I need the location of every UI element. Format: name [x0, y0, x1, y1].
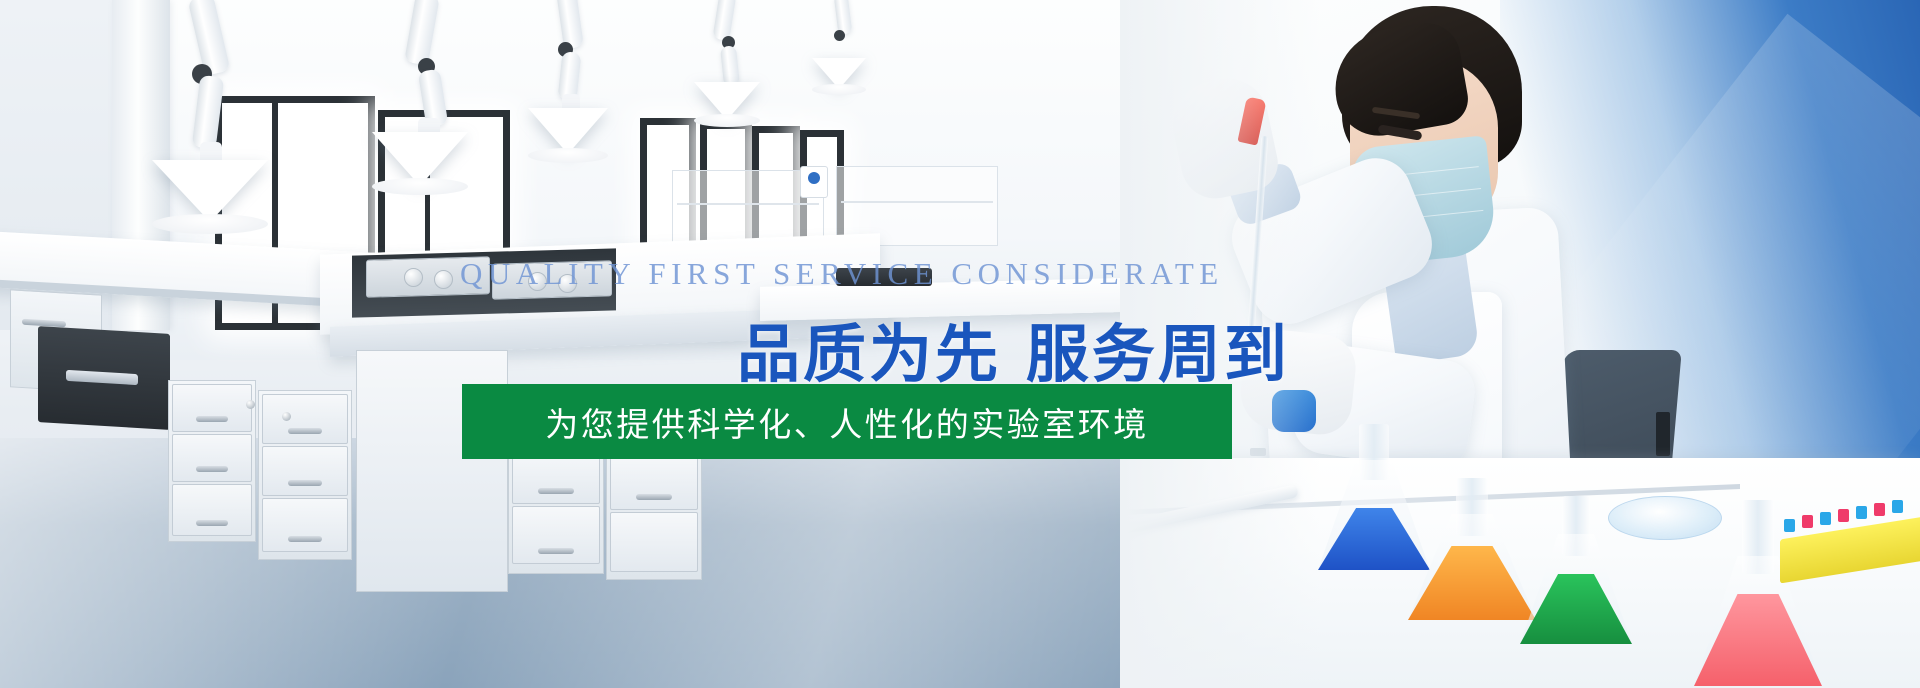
- text-overlay: QUALITY FIRST SERVICE CONSIDERATE 品质为先 服…: [0, 0, 1920, 688]
- headline: 品质为先 服务周到: [737, 304, 1290, 395]
- subtitle-bar: 为您提供科学化、人性化的实验室环境: [462, 384, 1232, 459]
- english-tagline: QUALITY FIRST SERVICE CONSIDERATE: [460, 256, 1224, 292]
- subtitle-text: 为您提供科学化、人性化的实验室环境: [545, 398, 1149, 446]
- lab-hero-banner: QUALITY FIRST SERVICE CONSIDERATE 品质为先 服…: [0, 0, 1920, 688]
